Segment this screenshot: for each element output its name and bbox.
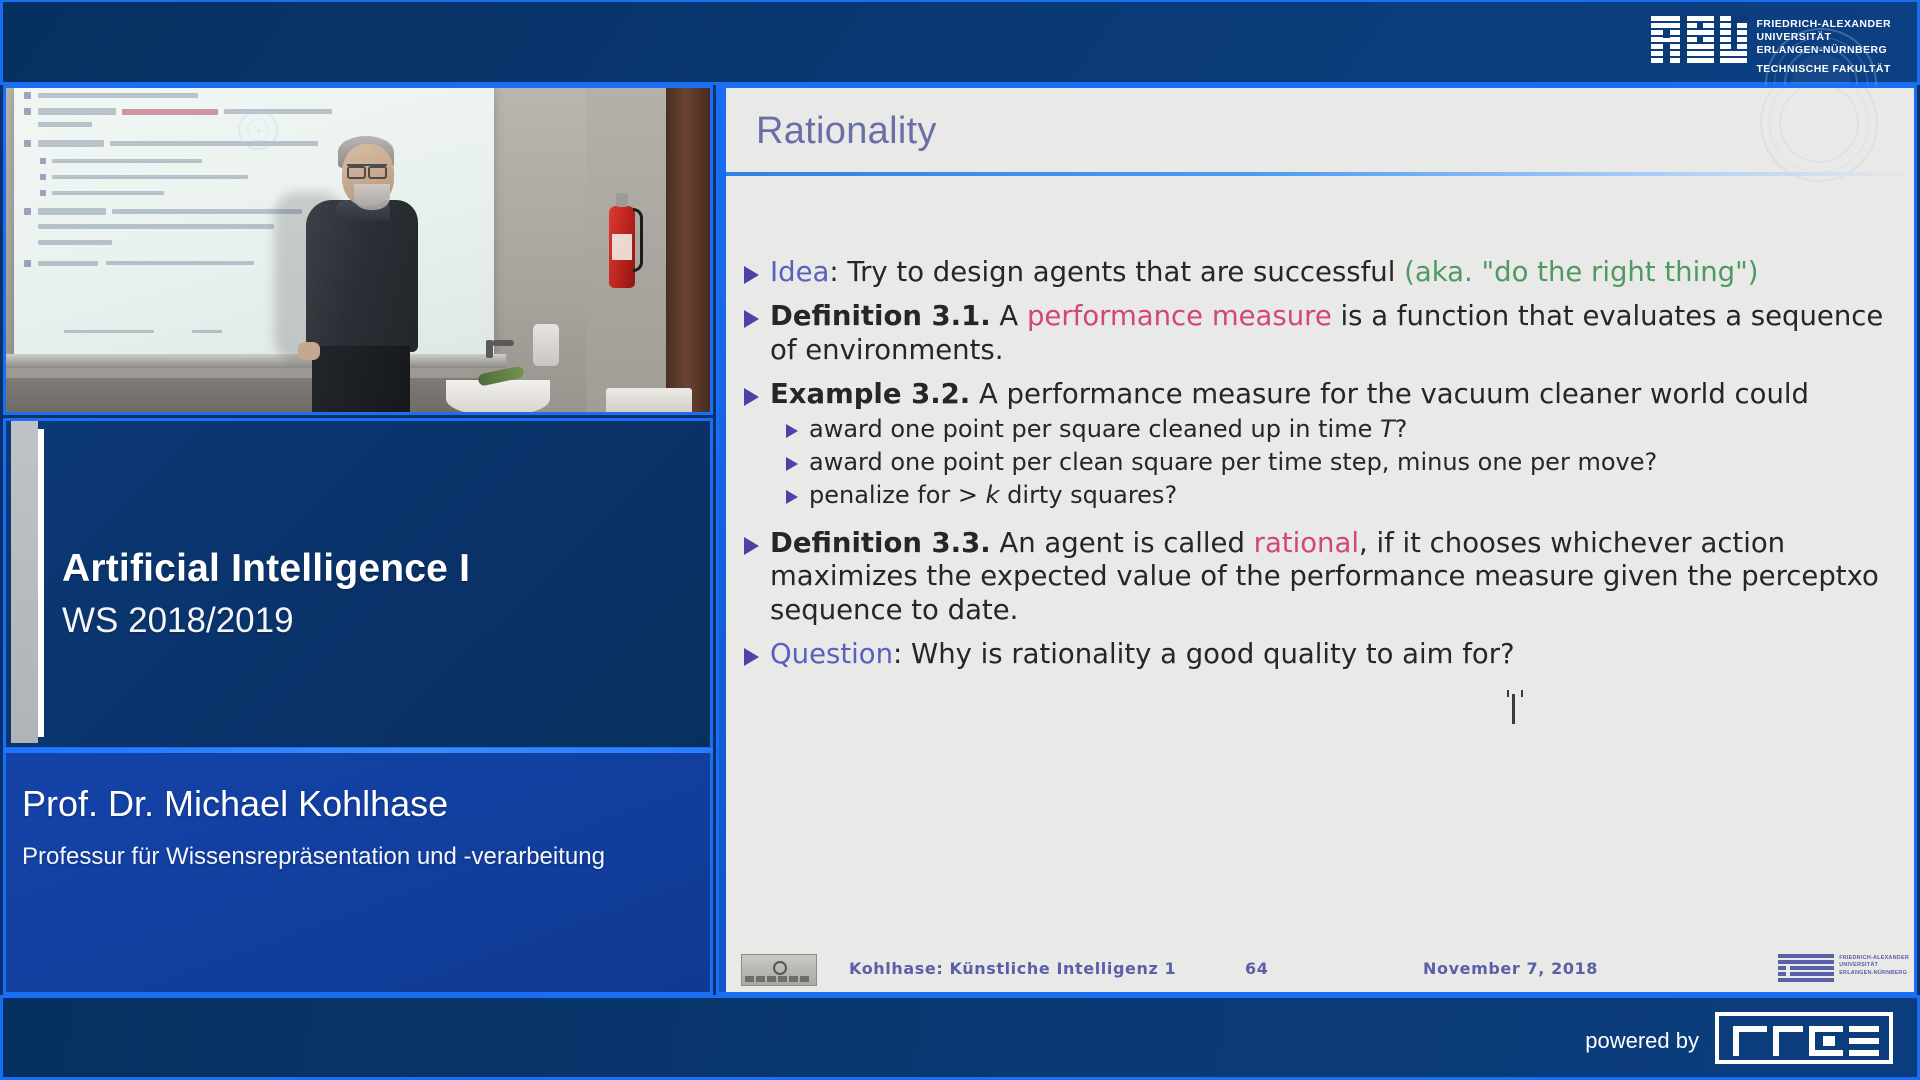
bullet-segment: : Why is rationality a good quality to a… [893, 638, 1515, 670]
bullet-segment: award one point per square cleaned up in… [809, 415, 1380, 443]
bullet-segment: A [991, 300, 1027, 332]
fire-extinguisher-label [612, 234, 632, 260]
presenter-panel: Prof. Dr. Michael Kohlhase Professur für… [3, 753, 713, 995]
slide-bullet: Example 3.2. A performance measure for t… [744, 378, 1904, 411]
bullet-triangle-icon [786, 490, 798, 504]
video-frame [6, 88, 710, 412]
bullet-triangle-icon [744, 648, 759, 666]
slide-bullet: Idea: Try to design agents that are succ… [744, 256, 1904, 289]
bullet-segment: : Try to design agents that are successf… [829, 256, 1395, 288]
bullet-text: Definition 3.1. A performance measure is… [770, 300, 1904, 367]
bullet-segment: T [1380, 415, 1395, 443]
slide-body: Idea: Try to design agents that are succ… [744, 256, 1904, 675]
slide-bullet: Definition 3.1. A performance measure is… [744, 300, 1904, 367]
footer-fau-line-1: FRIEDRICH-ALEXANDER [1839, 955, 1909, 961]
fau-line-3: ERLANGEN-NÜRNBERG [1756, 44, 1887, 56]
bullet-segment: A performance measure for the vacuum cle… [970, 378, 1809, 410]
bullet-segment: Definition 3.3. [770, 527, 991, 559]
fire-extinguisher-hose [633, 208, 643, 272]
towel-dispenser [606, 388, 692, 412]
bullet-segment: dirty squares? [1000, 481, 1178, 509]
course-term: WS 2018/2019 [62, 601, 294, 641]
bullet-segment: Question [770, 638, 893, 670]
bullet-text: award one point per square cleaned up in… [809, 415, 1407, 444]
bullet-triangle-icon [744, 266, 759, 284]
lecturer-video[interactable] [3, 85, 713, 415]
fau-wordmark: FRIEDRICH-ALEXANDER UNIVERSITÄT ERLANGEN… [1756, 16, 1891, 76]
lecturer-legs [312, 346, 410, 412]
slide-bullet: Definition 3.3. An agent is called ratio… [744, 527, 1904, 627]
lecturer-body [306, 200, 418, 352]
accent-bar [11, 421, 38, 743]
presenter-name: Prof. Dr. Michael Kohlhase [22, 783, 448, 825]
footer-fau-wordmark: FRIEDRICH-ALEXANDER UNIVERSITÄT ERLANGEN… [1839, 954, 1909, 977]
bullet-triangle-icon [786, 457, 798, 471]
sink-basin [446, 380, 550, 412]
bullet-segment: Definition 3.1. [770, 300, 991, 332]
bullet-segment: penalize for > [809, 481, 986, 509]
slide-nav-cells [745, 976, 809, 982]
fau-line-1: FRIEDRICH-ALEXANDER [1756, 18, 1891, 30]
bullet-segment: award one point per clean square per tim… [809, 448, 1657, 476]
slide-nav-widget[interactable] [741, 954, 817, 986]
slide-left-rail [719, 88, 726, 992]
bullet-segment: (aka. "do the right thing") [1395, 256, 1758, 288]
text-cursor [1512, 694, 1515, 724]
lecturer-hands [298, 342, 320, 360]
slide-nav-circle-icon [773, 961, 787, 975]
bullet-triangle-icon [786, 424, 798, 438]
bullet-text: award one point per clean square per tim… [809, 448, 1657, 477]
fau-logo: FRIEDRICH-ALEXANDER UNIVERSITÄT ERLANGEN… [1651, 16, 1891, 76]
top-banner: FRIEDRICH-ALEXANDER UNIVERSITÄT ERLANGEN… [0, 0, 1920, 85]
left-column: Artificial Intelligence I WS 2018/2019 P… [0, 85, 716, 995]
soap-dispenser [533, 324, 559, 366]
bullet-segment: An agent is called [991, 527, 1254, 559]
fau-line-2: UNIVERSITÄT [1756, 31, 1831, 43]
bullet-segment: rational [1254, 527, 1359, 559]
course-title-panel: Artificial Intelligence I WS 2018/2019 [3, 418, 713, 750]
bullet-text: Question: Why is rationality a good qual… [770, 638, 1515, 671]
lecturer-glasses [347, 164, 387, 174]
lecturer-beard [354, 184, 390, 210]
powered-by-label: powered by [1585, 1028, 1699, 1054]
bullet-text: penalize for > k dirty squares? [809, 481, 1177, 510]
rrze-logo [1715, 1012, 1893, 1064]
bullet-text: Definition 3.3. An agent is called ratio… [770, 527, 1904, 627]
bullet-segment: performance measure [1027, 300, 1332, 332]
bullet-text: Idea: Try to design agents that are succ… [770, 256, 1759, 289]
bullet-segment: k [986, 481, 1000, 509]
bullet-segment: ? [1395, 415, 1408, 443]
slide-title: Rationality [756, 110, 937, 153]
course-title: Artificial Intelligence I [62, 547, 470, 591]
fau-faculty-line: TECHNISCHE FAKULTÄT [1756, 63, 1891, 76]
faucet [492, 340, 514, 346]
footer-fau-line-3: ERLANGEN-NÜRNBERG [1839, 970, 1907, 976]
slide-surface: Rationality Idea: Try to design agents t… [726, 88, 1914, 992]
slide-bullet: Question: Why is rationality a good qual… [744, 638, 1904, 671]
slide-sub-bullet-list: award one point per square cleaned up in… [786, 415, 1904, 510]
screen-rail [6, 354, 506, 368]
door-frame [666, 88, 710, 412]
footer-fau-mark [1778, 954, 1834, 984]
accent-bar-divider [38, 429, 44, 737]
projection-screen [14, 88, 494, 354]
slide-sub-bullet: penalize for > k dirty squares? [786, 481, 1904, 510]
bullet-text: Example 3.2. A performance measure for t… [770, 378, 1809, 411]
footer-page-number: 64 [1245, 959, 1268, 978]
footer-fau-line-2: UNIVERSITÄT [1839, 962, 1878, 968]
video-lecture-player: FRIEDRICH-ALEXANDER UNIVERSITÄT ERLANGEN… [0, 0, 1920, 1080]
footer-course-label: Kohlhase: Künstliche Intelligenz 1 [849, 959, 1176, 978]
fau-logo-mark [1651, 16, 1747, 62]
slide-footer: Kohlhase: Künstliche Intelligenz 1 64 No… [733, 950, 1917, 992]
bullet-segment: Example 3.2. [770, 378, 970, 410]
bullet-triangle-icon [744, 388, 759, 406]
slide-viewer[interactable]: Rationality Idea: Try to design agents t… [716, 85, 1917, 995]
slide-sub-bullet: award one point per clean square per tim… [786, 448, 1904, 477]
counter [6, 378, 506, 412]
bullet-triangle-icon [744, 537, 759, 555]
presenter-role: Professur für Wissensrepräsentation und … [22, 841, 682, 873]
slide-sub-bullet: award one point per square cleaned up in… [786, 415, 1904, 444]
university-seal-watermark-slide [1760, 85, 1878, 182]
footer-date: November 7, 2018 [1423, 959, 1598, 978]
slide-title-rule [726, 172, 1914, 176]
bullet-segment: Idea [770, 256, 829, 288]
bottom-bar: powered by [0, 995, 1920, 1080]
footer-fau-logo: FRIEDRICH-ALEXANDER UNIVERSITÄT ERLANGEN… [1778, 954, 1909, 984]
bullet-triangle-icon [744, 310, 759, 328]
